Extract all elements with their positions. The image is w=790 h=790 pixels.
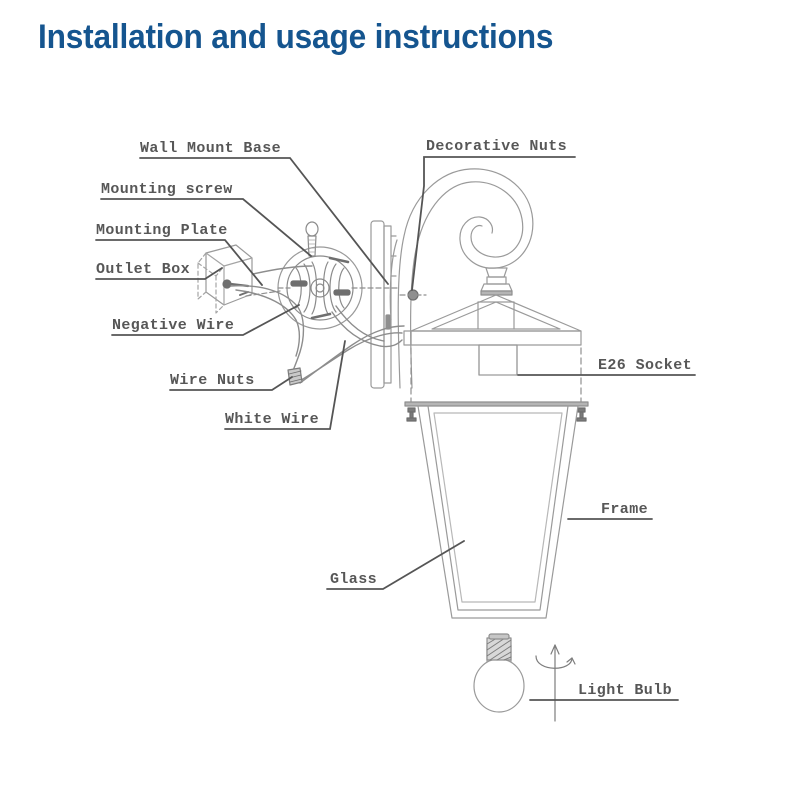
mounting-screw-part	[306, 222, 318, 256]
mounting-plate-part	[278, 247, 400, 329]
label-negative-wire: Negative Wire	[112, 317, 234, 334]
label-outlet-box: Outlet Box	[96, 261, 190, 278]
frame-screw-right	[577, 408, 586, 421]
label-mounting-plate: Mounting Plate	[96, 222, 228, 239]
scroll-arm-part	[390, 169, 533, 388]
frame-part	[418, 406, 578, 618]
label-wall-mount-base: Wall Mount Base	[140, 140, 281, 157]
light-bulb-part	[474, 634, 524, 712]
label-white-wire: White Wire	[225, 411, 319, 428]
label-mounting-screw: Mounting screw	[101, 181, 233, 198]
frame-screw-left	[407, 408, 416, 421]
e26-socket-part	[479, 345, 517, 375]
diagram-page: Installation and usage instructions	[0, 0, 790, 790]
finial-neck-part	[481, 268, 512, 295]
roof-part	[404, 295, 581, 345]
decorative-nut-part	[400, 290, 426, 300]
label-e26-socket: E26 Socket	[598, 357, 692, 374]
label-wire-nuts: Wire Nuts	[170, 372, 255, 389]
rotation-symbol	[536, 645, 575, 721]
leader-decorative-nuts	[412, 157, 575, 290]
wire-nuts-part	[288, 368, 302, 385]
label-decorative-nuts: Decorative Nuts	[426, 138, 567, 155]
outlet-box-part	[198, 245, 280, 313]
label-frame: Frame	[601, 501, 648, 518]
label-glass: Glass	[330, 571, 377, 588]
label-light-bulb: Light Bulb	[578, 682, 672, 699]
installation-diagram	[0, 0, 790, 790]
wiring-harness	[231, 266, 404, 383]
wall-mount-base-part	[371, 221, 396, 388]
glass-top-rim	[405, 402, 588, 406]
